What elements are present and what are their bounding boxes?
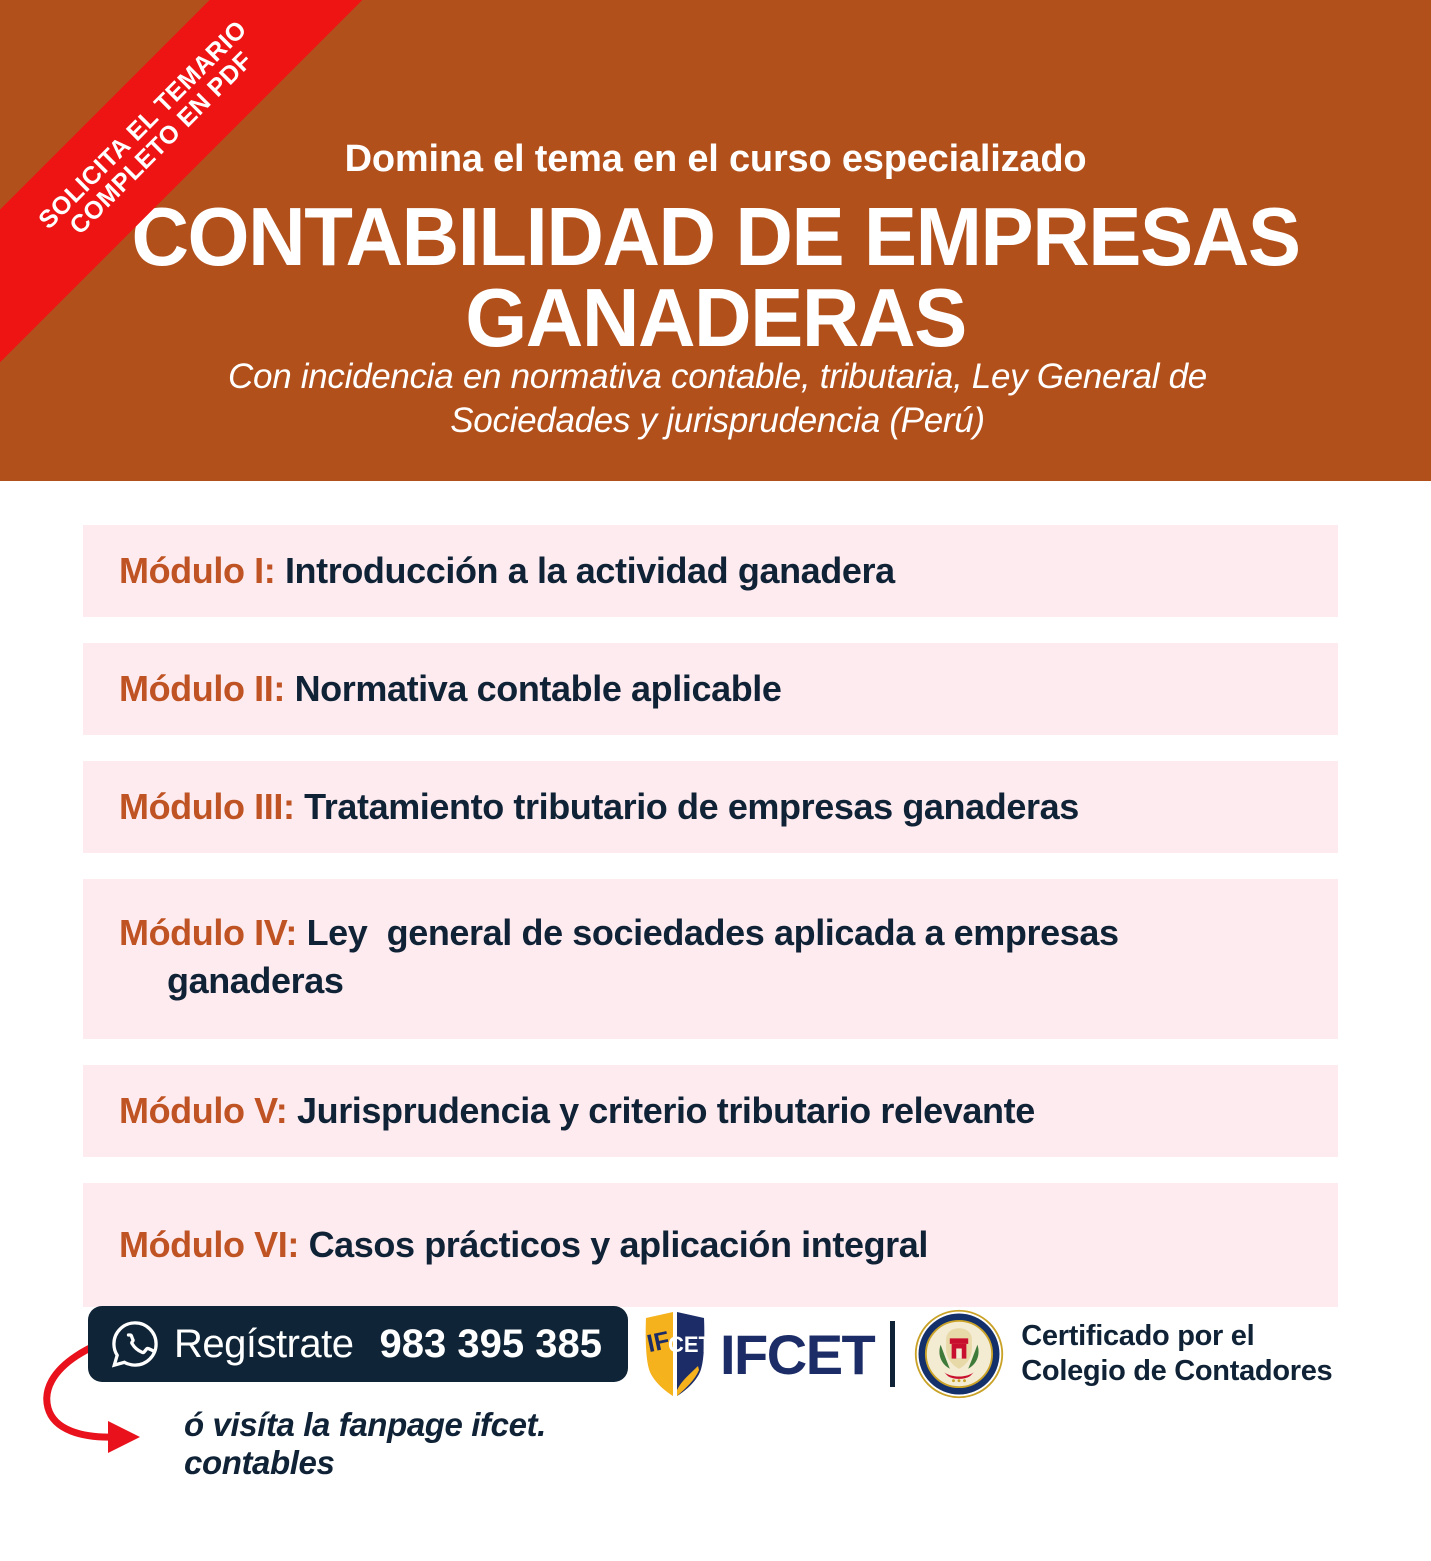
module-item-4-number: Módulo IV:	[119, 912, 307, 953]
header-subtitle-line-1: Con incidencia en normativa contable, tr…	[90, 355, 1345, 399]
page-title-line-2: GANADERAS	[86, 277, 1345, 358]
module-item-4-text: Módulo IV: Ley general de sociedades apl…	[119, 909, 1302, 1004]
brand-divider	[890, 1321, 895, 1387]
module-item-4-title: Ley general de sociedades aplicada a emp…	[167, 912, 1128, 1001]
module-item-1-number: Módulo I:	[119, 550, 285, 591]
module-item-3-number: Módulo III:	[119, 786, 304, 827]
page-title-line-1: CONTABILIDAD DE EMPRESAS	[86, 196, 1345, 277]
header-banner: SOLICITA EL TEMARIO COMPLETO EN PDF Domi…	[0, 0, 1431, 481]
module-item-3-text: Módulo III: Tratamiento tributario de em…	[119, 783, 1079, 831]
header-subtitle: Con incidencia en normativa contable, tr…	[90, 355, 1345, 443]
ifcet-logo: IF CET IFCET	[640, 1310, 874, 1398]
row-spacer	[83, 1039, 1338, 1065]
module-item-3-title: Tratamiento tributario de empresas ganad…	[304, 786, 1079, 827]
module-item-2-title: Normativa contable aplicable	[295, 668, 782, 709]
module-item-5-title: Jurisprudencia y criterio tributario rel…	[297, 1090, 1035, 1131]
footer: Regístrate 983 395 385 ó visíta la fanpa…	[0, 1296, 1431, 1476]
module-item-6-number: Módulo VI:	[119, 1224, 309, 1265]
module-item-5-number: Módulo V:	[119, 1090, 297, 1131]
ifcet-wordmark: IFCET	[720, 1322, 874, 1387]
module-item-1-text: Módulo I: Introducción a la actividad ga…	[119, 547, 895, 595]
page-title: CONTABILIDAD DE EMPRESAS GANADERAS	[86, 196, 1345, 359]
fanpage-text[interactable]: ó visíta la fanpage ifcet. contables	[184, 1406, 628, 1482]
module-item-2-number: Módulo II:	[119, 668, 295, 709]
module-item-6-text: Módulo VI: Casos prácticos y aplicación …	[119, 1221, 928, 1269]
certification-text: Certificado por el Colegio de Contadores	[1021, 1319, 1332, 1389]
module-row[interactable]: Módulo VI: Casos prácticos y aplicación …	[83, 1183, 1338, 1307]
module-item-6-title: Casos prácticos y aplicación integral	[309, 1224, 928, 1265]
certification-line-1: Certificado por el	[1021, 1319, 1332, 1354]
whatsapp-cta-group: Regístrate 983 395 385 ó visíta la fanpa…	[88, 1306, 628, 1382]
row-spacer	[83, 1157, 1338, 1183]
ifcet-shield-icon: IF CET	[640, 1310, 710, 1398]
colegio-contadores-seal-icon	[913, 1308, 1005, 1400]
module-list: Módulo I: Introducción a la actividad ga…	[83, 525, 1338, 1307]
whatsapp-phone-number: 983 395 385	[380, 1322, 602, 1367]
module-row[interactable]: Módulo II: Normativa contable aplicable	[83, 643, 1338, 735]
svg-text:CET: CET	[668, 1332, 710, 1357]
module-row[interactable]: Módulo IV: Ley general de sociedades apl…	[83, 879, 1338, 1039]
whatsapp-cta-label: Regístrate	[174, 1322, 354, 1367]
module-item-1-title: Introducción a la actividad ganadera	[285, 550, 895, 591]
module-row[interactable]: Módulo III: Tratamiento tributario de em…	[83, 761, 1338, 853]
row-spacer	[83, 853, 1338, 879]
module-row[interactable]: Módulo I: Introducción a la actividad ga…	[83, 525, 1338, 617]
header-subtitle-line-2: Sociedades y jurisprudencia (Perú)	[90, 399, 1345, 443]
whatsapp-icon	[110, 1319, 160, 1369]
module-item-5-text: Módulo V: Jurisprudencia y criterio trib…	[119, 1087, 1035, 1135]
whatsapp-register-button[interactable]: Regístrate 983 395 385	[88, 1306, 628, 1382]
certification-badge: Certificado por el Colegio de Contadores	[913, 1308, 1332, 1400]
row-spacer	[83, 617, 1338, 643]
brand-logos: IF CET IFCET Cer	[640, 1308, 1332, 1400]
module-item-2-text: Módulo II: Normativa contable aplicable	[119, 665, 782, 713]
row-spacer	[83, 735, 1338, 761]
module-row[interactable]: Módulo V: Jurisprudencia y criterio trib…	[83, 1065, 1338, 1157]
certification-line-2: Colegio de Contadores	[1021, 1354, 1332, 1389]
